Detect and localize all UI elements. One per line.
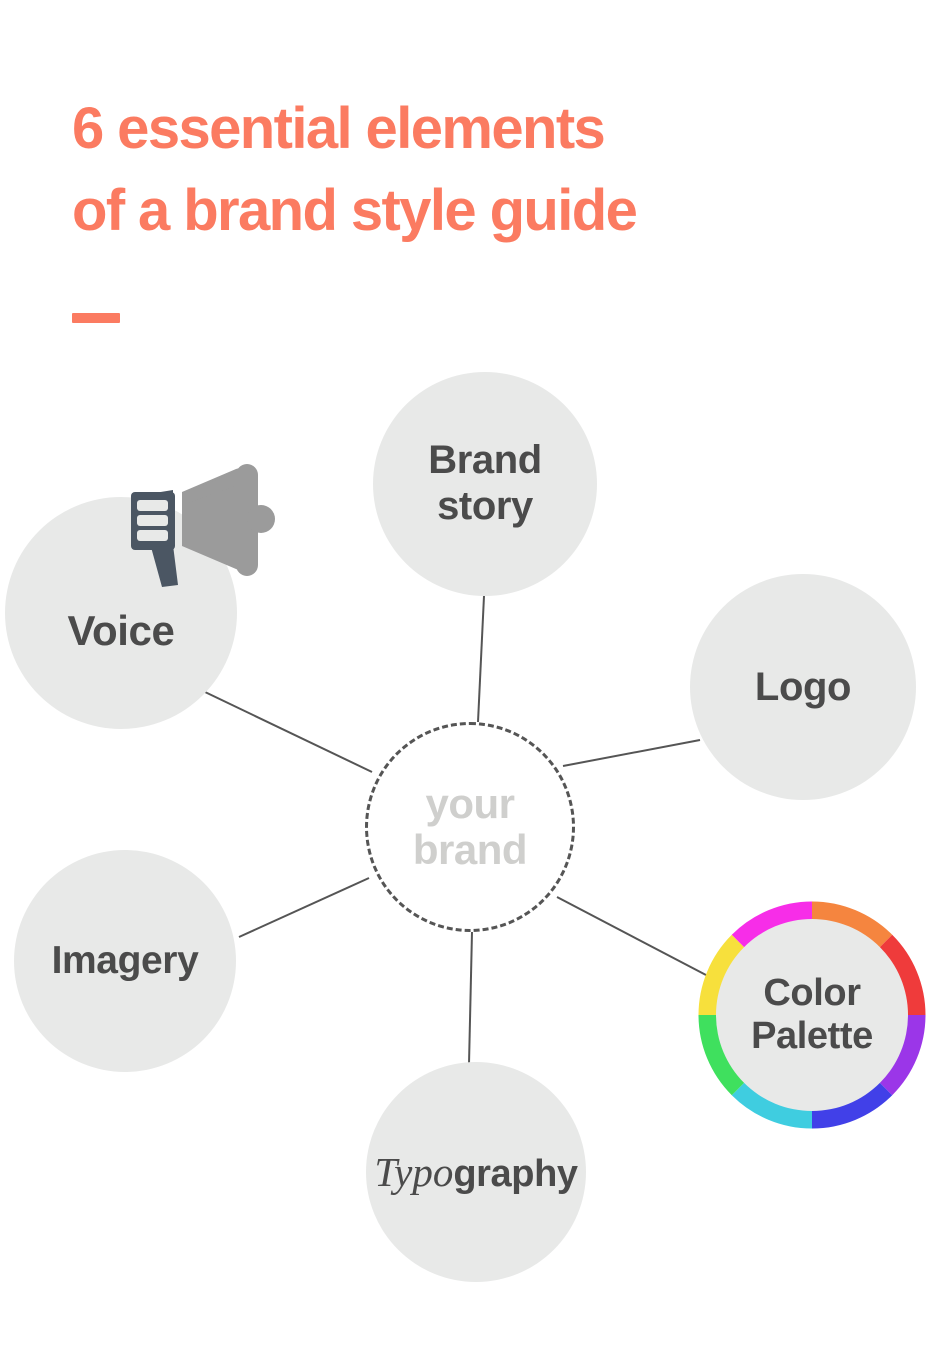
hub-line-1: your xyxy=(425,780,514,827)
typography-serif-part: Typo xyxy=(374,1149,453,1195)
node-voice-label: Voice xyxy=(68,607,175,655)
node-imagery[interactable]: Imagery xyxy=(14,850,236,1072)
brand-story-line-2: story xyxy=(437,484,533,528)
node-typography-label: Typography xyxy=(374,1148,577,1196)
infographic-canvas: 6 essential elements of a brand style gu… xyxy=(0,0,930,1365)
hub-your-brand[interactable]: your brand xyxy=(365,722,575,932)
node-logo-label: Logo xyxy=(755,665,851,710)
node-brand-story[interactable]: Brand story xyxy=(373,372,597,596)
edge-hub-to-logo xyxy=(563,740,700,766)
node-typography[interactable]: Typography xyxy=(366,1062,586,1282)
edge-hub-to-typography xyxy=(469,932,472,1064)
node-brand-story-label: Brand story xyxy=(428,438,542,529)
node-color-palette-label: Color Palette xyxy=(751,972,873,1059)
node-logo[interactable]: Logo xyxy=(690,574,916,800)
edge-hub-to-color-palette xyxy=(557,897,706,975)
color-palette-line-2: Palette xyxy=(751,1015,873,1057)
typography-sans-part: graphy xyxy=(453,1153,577,1195)
hub-line-2: brand xyxy=(413,826,527,873)
node-color-palette[interactable]: Color Palette xyxy=(698,901,926,1129)
brand-story-line-1: Brand xyxy=(428,438,542,482)
hub-label: your brand xyxy=(413,781,527,873)
color-palette-line-1: Color xyxy=(763,972,860,1014)
color-palette-inner-disc: Color Palette xyxy=(716,919,908,1111)
edge-hub-to-brand-story xyxy=(478,596,484,722)
megaphone-icon xyxy=(118,452,278,587)
brand-style-guide-diagram: Brand story Logo Imagery Typography Voic… xyxy=(0,0,930,1365)
node-imagery-label: Imagery xyxy=(52,939,199,983)
edge-hub-to-imagery xyxy=(239,878,369,937)
edge-hub-to-voice xyxy=(205,692,372,772)
